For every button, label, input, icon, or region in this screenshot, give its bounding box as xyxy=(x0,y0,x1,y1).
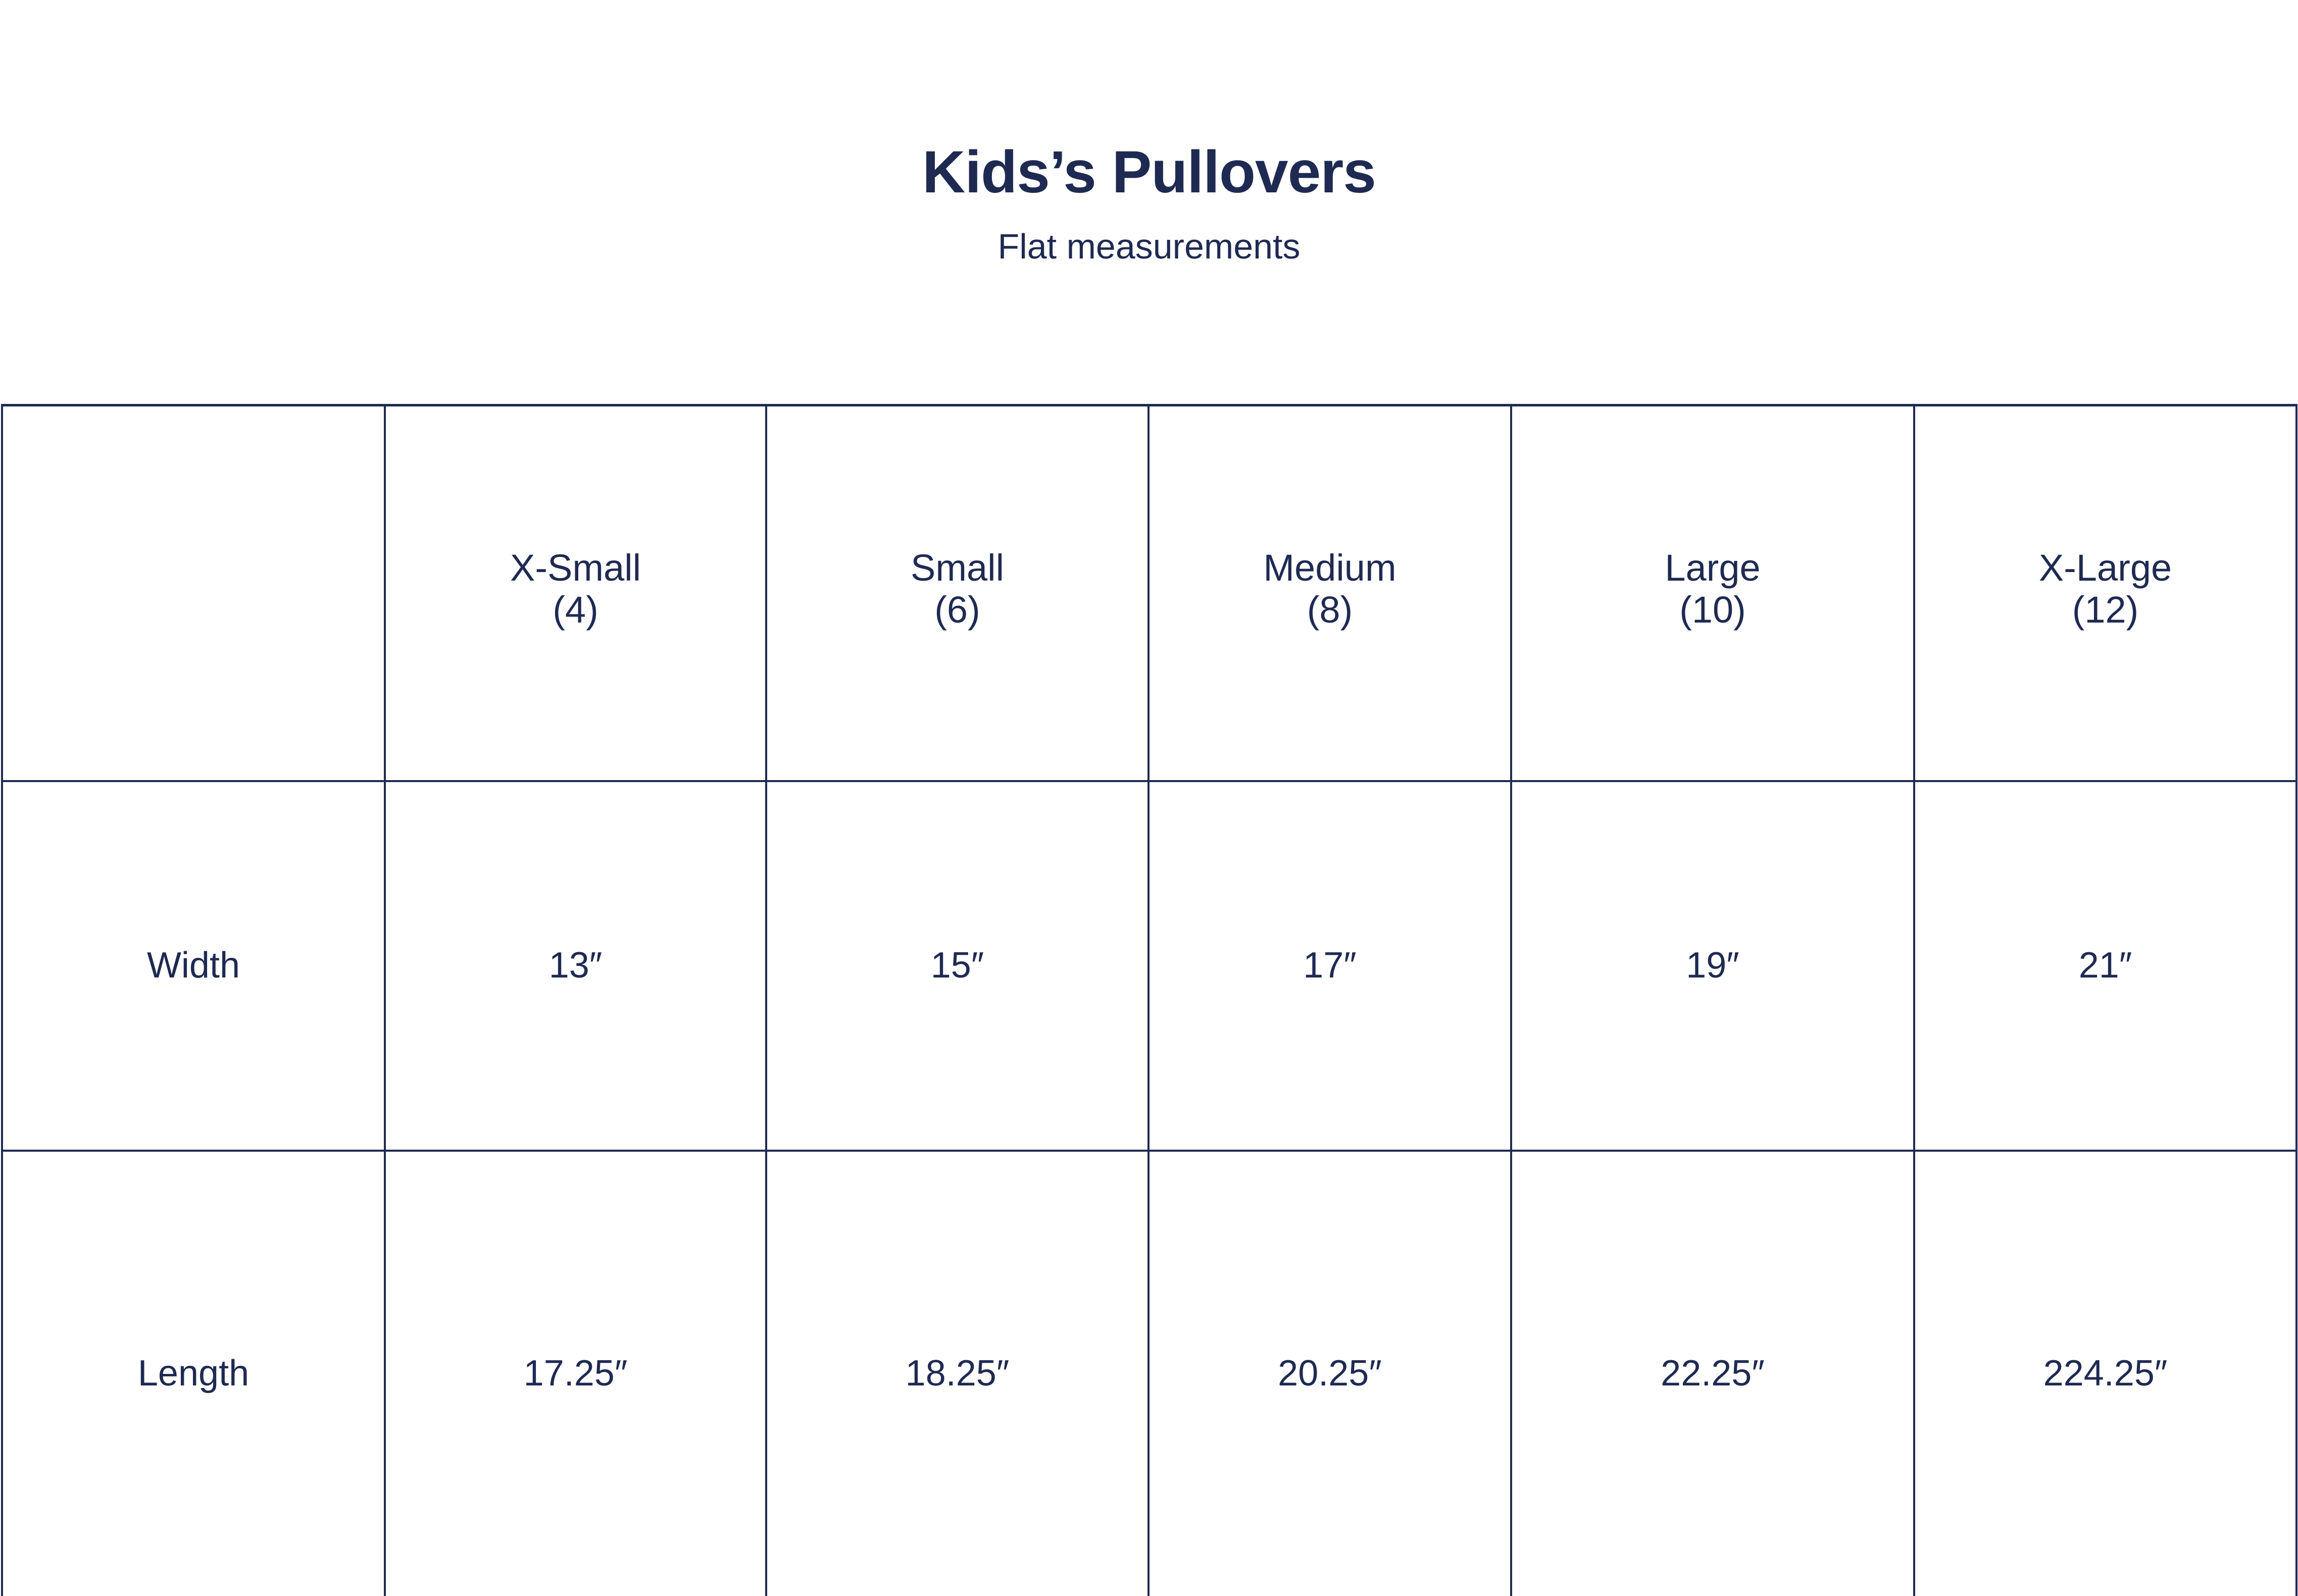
header-size-name-x-large: X-Large xyxy=(1915,547,2295,589)
header-age-x-large: (12) xyxy=(1915,589,2295,631)
size-chart-page: Kids’s Pullovers Flat measurements X-Sma… xyxy=(0,0,2298,1590)
value-length-x-large: 224.25″ xyxy=(1915,1354,2295,1394)
header-age-small: (6) xyxy=(767,589,1147,631)
row-header-width: Width xyxy=(2,781,385,1151)
cell-width-medium: 17″ xyxy=(1148,781,1511,1151)
header-stack-medium: Medium (8) xyxy=(1150,547,1510,631)
header-size-name-large: Large xyxy=(1512,547,1913,589)
cell-width-x-small: 13″ xyxy=(385,781,766,1151)
header-stack-small: Small (6) xyxy=(767,547,1147,631)
header-stack-x-small: X-Small (4) xyxy=(386,547,765,631)
page-title: Kids’s Pullovers xyxy=(0,141,2298,204)
header-age-large: (10) xyxy=(1512,589,1913,631)
row-label-width: Width xyxy=(3,946,384,986)
column-header-large: Large (10) xyxy=(1511,405,1914,782)
value-width-medium: 17″ xyxy=(1150,946,1510,986)
column-header-x-small: X-Small (4) xyxy=(385,405,766,782)
header-age-x-small: (4) xyxy=(386,589,765,631)
column-header-x-large: X-Large (12) xyxy=(1914,405,2296,782)
heading-block: Kids’s Pullovers Flat measurements xyxy=(0,141,2298,266)
table-row-length: Length 17.25″ 18.25″ 20.25″ 22.25″ 224.2… xyxy=(2,1151,2296,1596)
table-header-row: X-Small (4) Small (6) Medium (8) xyxy=(2,405,2296,782)
cell-width-small: 15″ xyxy=(766,781,1148,1151)
row-label-length: Length xyxy=(3,1354,384,1394)
header-stack-large: Large (10) xyxy=(1512,547,1913,631)
header-stack-x-large: X-Large (12) xyxy=(1915,547,2295,631)
table-row-width: Width 13″ 15″ 17″ 19″ 21″ xyxy=(2,781,2296,1151)
column-header-medium: Medium (8) xyxy=(1148,405,1511,782)
cell-length-medium: 20.25″ xyxy=(1148,1151,1511,1596)
cell-length-x-large: 224.25″ xyxy=(1914,1151,2296,1596)
value-length-small: 18.25″ xyxy=(767,1354,1147,1394)
column-header-small: Small (6) xyxy=(766,405,1148,782)
header-size-name-small: Small xyxy=(767,547,1147,589)
cell-length-small: 18.25″ xyxy=(766,1151,1148,1596)
table-corner-cell xyxy=(2,405,385,782)
page-subtitle: Flat measurements xyxy=(0,204,2298,266)
cell-width-x-large: 21″ xyxy=(1914,781,2296,1151)
header-age-medium: (8) xyxy=(1150,589,1510,631)
cell-width-large: 19″ xyxy=(1511,781,1914,1151)
value-width-small: 15″ xyxy=(767,946,1147,986)
cell-length-large: 22.25″ xyxy=(1511,1151,1914,1596)
header-size-name-medium: Medium xyxy=(1150,547,1510,589)
value-width-x-small: 13″ xyxy=(386,946,765,986)
size-measurements-table: X-Small (4) Small (6) Medium (8) xyxy=(1,404,2297,1596)
value-length-x-small: 17.25″ xyxy=(386,1354,765,1394)
header-size-name-x-small: X-Small xyxy=(386,547,765,589)
cell-length-x-small: 17.25″ xyxy=(385,1151,766,1596)
value-length-large: 22.25″ xyxy=(1512,1354,1913,1394)
row-header-length: Length xyxy=(2,1151,385,1596)
value-width-x-large: 21″ xyxy=(1915,946,2295,986)
value-width-large: 19″ xyxy=(1512,946,1913,986)
value-length-medium: 20.25″ xyxy=(1150,1354,1510,1394)
